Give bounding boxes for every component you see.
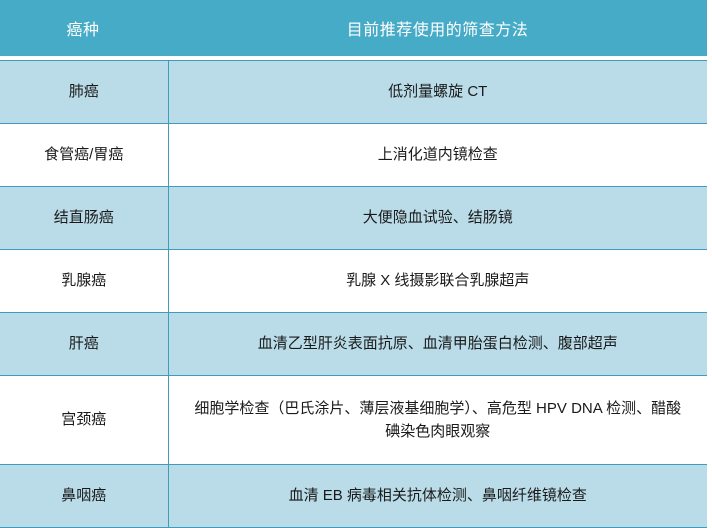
table-row: 肺癌 低剂量螺旋 CT (0, 61, 707, 124)
screenshot-root: 癌种 目前推荐使用的筛查方法 肺癌 低剂量螺旋 CT 食管癌/胃癌 上消化道内镜… (0, 0, 712, 457)
cell-cancer-type: 鼻咽癌 (0, 465, 168, 528)
table-header: 癌种 目前推荐使用的筛查方法 (0, 0, 707, 56)
cell-cancer-type: 肺癌 (0, 61, 168, 124)
cell-cancer-type: 宫颈癌 (0, 376, 168, 465)
cell-screening-method: 血清 EB 病毒相关抗体检测、鼻咽纤维镜检查 (168, 465, 707, 528)
cell-screening-method: 上消化道内镜检查 (168, 124, 707, 187)
table-row: 结直肠癌 大便隐血试验、结肠镜 (0, 187, 707, 250)
cell-cancer-type: 肝癌 (0, 313, 168, 376)
table-row: 宫颈癌 细胞学检查（巴氏涂片、薄层液基细胞学）、高危型 HPV DNA 检测、醋… (0, 376, 707, 465)
cell-screening-method: 血清乙型肝炎表面抗原、血清甲胎蛋白检测、腹部超声 (168, 313, 707, 376)
table-row: 肝癌 血清乙型肝炎表面抗原、血清甲胎蛋白检测、腹部超声 (0, 313, 707, 376)
column-header-screening-method: 目前推荐使用的筛查方法 (168, 0, 707, 56)
table-header-row: 癌种 目前推荐使用的筛查方法 (0, 0, 707, 56)
cell-screening-method: 低剂量螺旋 CT (168, 61, 707, 124)
table-row: 食管癌/胃癌 上消化道内镜检查 (0, 124, 707, 187)
cell-cancer-type: 结直肠癌 (0, 187, 168, 250)
column-header-cancer-type: 癌种 (0, 0, 168, 56)
cell-screening-method: 细胞学检查（巴氏涂片、薄层液基细胞学）、高危型 HPV DNA 检测、醋酸碘染色… (168, 376, 707, 465)
cell-cancer-type: 乳腺癌 (0, 250, 168, 313)
cell-screening-method: 大便隐血试验、结肠镜 (168, 187, 707, 250)
cell-screening-method: 乳腺 X 线摄影联合乳腺超声 (168, 250, 707, 313)
cell-cancer-type: 食管癌/胃癌 (0, 124, 168, 187)
table-row: 乳腺癌 乳腺 X 线摄影联合乳腺超声 (0, 250, 707, 313)
cancer-screening-table: 癌种 目前推荐使用的筛查方法 肺癌 低剂量螺旋 CT 食管癌/胃癌 上消化道内镜… (0, 0, 707, 528)
table-row: 鼻咽癌 血清 EB 病毒相关抗体检测、鼻咽纤维镜检查 (0, 465, 707, 528)
